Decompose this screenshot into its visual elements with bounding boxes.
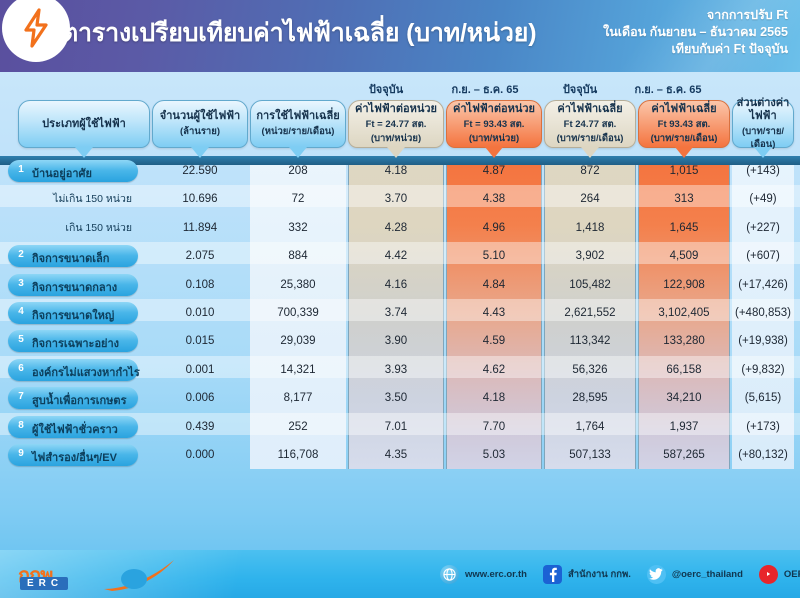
subtitle-line-2: ในเดือน กันยายน – ธันวาคม 2565 — [603, 24, 788, 41]
cell-rate-new: 4.84 — [446, 274, 542, 296]
column-header-customer-count: จำนวนผู้ใช้ไฟฟ้า(ล้านราย) — [152, 100, 248, 148]
header-line1: จำนวนผู้ใช้ไฟฟ้า — [160, 110, 240, 123]
column-header-rate-current: ค่าไฟฟ้าต่อหน่วยFt = 24.77 สต.(บาท/หน่วย… — [348, 100, 444, 148]
cell-bill-current: 872 — [544, 160, 636, 182]
table-row-sublabel: เกิน 150 หน่วย — [8, 217, 138, 239]
row-number: 3 — [14, 278, 28, 289]
cell-difference: (+173) — [732, 416, 794, 438]
row-number: 5 — [14, 334, 28, 345]
cell-bill-new: 3,102,405 — [638, 302, 730, 324]
table-row-label-pill[interactable]: 2กิจการขนาดเล็ก — [8, 245, 138, 267]
row-label: บ้านอยู่อาศัย — [32, 164, 92, 182]
cell-avg-usage: 208 — [250, 160, 346, 182]
table-body: 1บ้านอยู่อาศัย22.5902084.184.878721,015(… — [0, 156, 800, 469]
table-row-label-pill[interactable]: 7สูบน้ำเพื่อการเกษตร — [8, 387, 138, 409]
cell-bill-current: 507,133 — [544, 444, 636, 466]
facebook-icon[interactable] — [543, 565, 562, 584]
header-line3: (บาท/ราย/เดือน) — [557, 132, 624, 145]
column-header-bill-new: ค่าไฟฟ้าเฉลี่ยFt 93.43 สต.(บาท/ราย/เดือน… — [638, 100, 730, 148]
cell-rate-new: 4.38 — [446, 188, 542, 210]
table-row-sublabel: ไม่เกิน 150 หน่วย — [8, 188, 138, 210]
header-subtitle: จากการปรับ Ft ในเดือน กันยายน – ธันวาคม … — [603, 7, 788, 58]
cell-bill-new: 122,908 — [638, 274, 730, 296]
cell-customer-count: 0.006 — [152, 387, 248, 409]
cell-difference: (+9,832) — [732, 359, 794, 381]
cell-avg-usage: 25,380 — [250, 274, 346, 296]
row-number: 7 — [14, 391, 28, 402]
group-label-0: ปัจจุบัน — [338, 80, 434, 98]
social-links: www.erc.or.thสำนักงาน กกพ.@oerc_thailand… — [440, 550, 800, 598]
social-label: สำนักงาน กกพ. — [568, 567, 631, 582]
cell-bill-current: 28,595 — [544, 387, 636, 409]
row-label: องค์กรไม่แสวงหากำไร — [32, 363, 140, 381]
cell-difference: (+227) — [732, 217, 794, 239]
cell-rate-new: 4.96 — [446, 217, 542, 239]
cell-rate-new: 5.03 — [446, 444, 542, 466]
cell-rate-current: 4.42 — [348, 245, 444, 267]
cell-rate-current: 7.01 — [348, 416, 444, 438]
cell-difference: (+49) — [732, 188, 794, 210]
cell-rate-current: 3.70 — [348, 188, 444, 210]
table-row-label-pill[interactable]: 6องค์กรไม่แสวงหากำไร — [8, 359, 138, 381]
cell-rate-new: 4.62 — [446, 359, 542, 381]
row-number: 6 — [14, 363, 28, 374]
social-label: @oerc_thailand — [672, 569, 743, 580]
header-line1: การใช้ไฟฟ้าเฉลี่ย — [256, 110, 339, 123]
header-line1: ค่าไฟฟ้าต่อหน่วย — [453, 103, 535, 116]
subtitle-line-1: จากการปรับ Ft — [603, 7, 788, 24]
cell-customer-count: 2.075 — [152, 245, 248, 267]
cell-customer-count: 0.439 — [152, 416, 248, 438]
cell-avg-usage: 700,339 — [250, 302, 346, 324]
cell-bill-new: 1,645 — [638, 217, 730, 239]
cell-bill-new: 1,937 — [638, 416, 730, 438]
cell-rate-current: 3.74 — [348, 302, 444, 324]
row-label: สูบน้ำเพื่อการเกษตร — [32, 391, 126, 409]
table-row-label-pill[interactable]: 4กิจการขนาดใหญ่ — [8, 302, 138, 324]
cell-customer-count: 0.000 — [152, 444, 248, 466]
row-number: 8 — [14, 420, 28, 431]
globe-icon[interactable] — [440, 565, 459, 584]
header-line3: (บาท/ราย/เดือน) — [651, 132, 718, 145]
cell-customer-count: 22.590 — [152, 160, 248, 182]
cell-rate-new: 4.18 — [446, 387, 542, 409]
cell-difference: (+19,938) — [732, 330, 794, 352]
column-header-difference: ส่วนต่างค่าไฟฟ้า(บาท/ราย/เดือน) — [732, 100, 794, 148]
cell-avg-usage: 72 — [250, 188, 346, 210]
header-line2: Ft = 24.77 สต. — [366, 118, 427, 131]
header-line1: ค่าไฟฟ้าเฉลี่ย — [651, 103, 716, 116]
column-header-bill-current: ค่าไฟฟ้าเฉลี่ยFt 24.77 สต.(บาท/ราย/เดือน… — [544, 100, 636, 148]
cell-rate-current: 4.18 — [348, 160, 444, 182]
cell-bill-new: 34,210 — [638, 387, 730, 409]
row-label: ผู้ใช้ไฟฟ้าชั่วคราว — [32, 420, 118, 438]
logo-sub-text: ERC — [20, 577, 68, 590]
swoosh-icon — [102, 558, 178, 597]
cell-avg-usage: 884 — [250, 245, 346, 267]
cell-rate-current: 4.28 — [348, 217, 444, 239]
table-row-label-pill[interactable]: 5กิจการเฉพาะอย่าง — [8, 330, 138, 352]
social-link-2[interactable]: @oerc_thailand — [647, 565, 743, 584]
social-link-1[interactable]: สำนักงาน กกพ. — [543, 565, 631, 584]
cell-bill-current: 1,764 — [544, 416, 636, 438]
cell-bill-new: 4,509 — [638, 245, 730, 267]
header-line2: Ft 24.77 สต. — [564, 118, 617, 131]
cell-bill-current: 1,418 — [544, 217, 636, 239]
group-label-2: ปัจจุบัน — [536, 80, 624, 98]
cell-customer-count: 0.015 — [152, 330, 248, 352]
column-header-customer-type: ประเภทผู้ใช้ไฟฟ้า — [18, 100, 150, 148]
row-label: กิจการขนาดกลาง — [32, 278, 117, 296]
group-label-3: ก.ย. – ธ.ค. 65 — [624, 80, 712, 98]
cell-customer-count: 0.010 — [152, 302, 248, 324]
cell-bill-current: 3,902 — [544, 245, 636, 267]
cell-difference: (+607) — [732, 245, 794, 267]
cell-bill-current: 264 — [544, 188, 636, 210]
row-label: ไฟสำรอง/อื่นๆ/EV — [32, 448, 117, 466]
page-title: ตารางเปรียบเทียบค่าไฟฟ้าเฉลี่ย (บาท/หน่ว… — [62, 13, 536, 53]
cell-rate-current: 4.16 — [348, 274, 444, 296]
header-line2: Ft 93.43 สต. — [658, 118, 711, 131]
cell-rate-new: 4.59 — [446, 330, 542, 352]
group-label-1: ก.ย. – ธ.ค. 65 — [434, 80, 536, 98]
table-row-label-pill[interactable]: 8ผู้ใช้ไฟฟ้าชั่วคราว — [8, 416, 138, 438]
cell-avg-usage: 29,039 — [250, 330, 346, 352]
cell-bill-new: 66,158 — [638, 359, 730, 381]
cell-customer-count: 11.894 — [152, 217, 248, 239]
cell-bill-new: 1,015 — [638, 160, 730, 182]
cell-avg-usage: 116,708 — [250, 444, 346, 466]
column-group-labels: ปัจจุบันก.ย. – ธ.ค. 65ปัจจุบันก.ย. – ธ.ค… — [0, 80, 800, 96]
comparison-table: ปัจจุบันก.ย. – ธ.ค. 65ปัจจุบันก.ย. – ธ.ค… — [0, 72, 800, 527]
erc-logo: กกพ ERC — [18, 558, 178, 592]
cell-rate-current: 3.93 — [348, 359, 444, 381]
cell-difference: (+80,132) — [732, 444, 794, 466]
cell-avg-usage: 14,321 — [250, 359, 346, 381]
youtube-icon[interactable] — [759, 565, 778, 584]
header-line2: Ft = 93.43 สต. — [464, 118, 525, 131]
cell-rate-current: 4.35 — [348, 444, 444, 466]
row-label: กิจการขนาดใหญ่ — [32, 306, 114, 324]
cell-bill-current: 113,342 — [544, 330, 636, 352]
cell-bill-new: 313 — [638, 188, 730, 210]
row-label: กิจการเฉพาะอย่าง — [32, 334, 119, 352]
table-row-label-pill[interactable]: 9ไฟสำรอง/อื่นๆ/EV — [8, 444, 138, 466]
header-line1: ส่วนต่างค่าไฟฟ้า — [733, 97, 793, 123]
cell-customer-count: 0.108 — [152, 274, 248, 296]
page-footer: กกพ ERC www.erc.or.thสำนักงาน กกพ.@oerc_… — [0, 550, 800, 598]
header-line3: (บาท/หน่วย) — [371, 132, 421, 145]
header-line1: ประเภทผู้ใช้ไฟฟ้า — [42, 118, 126, 131]
row-label: กิจการขนาดเล็ก — [32, 249, 109, 267]
table-row-label-pill[interactable]: 1บ้านอยู่อาศัย — [8, 160, 138, 182]
social-link-3[interactable]: OERC Thai — [759, 565, 800, 584]
cell-rate-new: 4.87 — [446, 160, 542, 182]
cell-avg-usage: 8,177 — [250, 387, 346, 409]
cell-bill-current: 105,482 — [544, 274, 636, 296]
column-header-rate-new: ค่าไฟฟ้าต่อหน่วยFt = 93.43 สต.(บาท/หน่วย… — [446, 100, 542, 148]
cell-difference: (5,615) — [732, 387, 794, 409]
header-line1: ค่าไฟฟ้าต่อหน่วย — [355, 103, 437, 116]
cell-rate-new: 4.43 — [446, 302, 542, 324]
cell-rate-current: 3.50 — [348, 387, 444, 409]
row-number: 2 — [14, 249, 28, 260]
cell-bill-new: 133,280 — [638, 330, 730, 352]
page-header: ตารางเปรียบเทียบค่าไฟฟ้าเฉลี่ย (บาท/หน่ว… — [0, 0, 800, 72]
cell-rate-current: 3.90 — [348, 330, 444, 352]
lightning-bolt-icon — [2, 0, 70, 62]
cell-customer-count: 10.696 — [152, 188, 248, 210]
cell-difference: (+480,853) — [732, 302, 794, 324]
cell-rate-new: 5.10 — [446, 245, 542, 267]
cell-avg-usage: 332 — [250, 217, 346, 239]
cell-difference: (+17,426) — [732, 274, 794, 296]
header-line2: (หน่วย/ราย/เดือน) — [262, 125, 335, 138]
cell-bill-new: 587,265 — [638, 444, 730, 466]
twitter-icon[interactable] — [647, 565, 666, 584]
table-row-label-pill[interactable]: 3กิจการขนาดกลาง — [8, 274, 138, 296]
column-header-avg-usage: การใช้ไฟฟ้าเฉลี่ย(หน่วย/ราย/เดือน) — [250, 100, 346, 148]
cell-bill-current: 2,621,552 — [544, 302, 636, 324]
social-link-0[interactable]: www.erc.or.th — [440, 565, 527, 584]
row-number: 4 — [14, 306, 28, 317]
header-line2: (ล้านราย) — [180, 125, 220, 138]
social-label: www.erc.or.th — [465, 569, 527, 580]
header-line3: (บาท/หน่วย) — [469, 132, 519, 145]
row-number: 9 — [14, 448, 28, 459]
social-label: OERC Thai — [784, 569, 800, 580]
cell-rate-new: 7.70 — [446, 416, 542, 438]
cell-bill-current: 56,326 — [544, 359, 636, 381]
cell-customer-count: 0.001 — [152, 359, 248, 381]
header-line1: ค่าไฟฟ้าเฉลี่ย — [557, 103, 622, 116]
cell-difference: (+143) — [732, 160, 794, 182]
cell-avg-usage: 252 — [250, 416, 346, 438]
subtitle-line-3: เทียบกับค่า Ft ปัจจุบัน — [603, 41, 788, 58]
row-number: 1 — [14, 164, 28, 175]
